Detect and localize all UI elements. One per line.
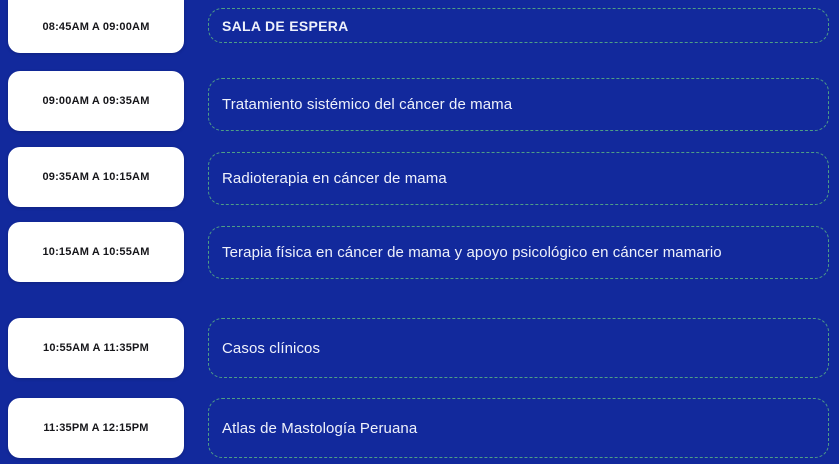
schedule-row: 10:15AM A 10:55AM Terapia física en cánc… (0, 222, 839, 282)
schedule-list: 08:45AM A 09:00AM SALA DE ESPERA 09:00AM… (0, 0, 839, 464)
session-title: Radioterapia en cáncer de mama (209, 170, 447, 187)
session-card[interactable]: Tratamiento sistémico del cáncer de mama (208, 78, 829, 131)
time-slot-chip[interactable]: 09:00AM A 09:35AM (8, 71, 184, 131)
time-slot-chip[interactable]: 11:35PM A 12:15PM (8, 398, 184, 458)
schedule-row: 08:45AM A 09:00AM SALA DE ESPERA (0, 0, 839, 54)
session-card[interactable]: Atlas de Mastología Peruana (208, 398, 829, 458)
session-title: Atlas de Mastología Peruana (209, 420, 417, 437)
session-card[interactable]: Terapia física en cáncer de mama y apoyo… (208, 226, 829, 279)
session-title: Casos clínicos (209, 340, 320, 357)
schedule-row: 11:35PM A 12:15PM Atlas de Mastología Pe… (0, 398, 839, 464)
time-slot-chip[interactable]: 09:35AM A 10:15AM (8, 147, 184, 207)
time-slot-label: 09:35AM A 10:15AM (42, 171, 149, 183)
time-slot-label: 08:45AM A 09:00AM (42, 21, 149, 33)
session-title: Terapia física en cáncer de mama y apoyo… (209, 244, 722, 261)
session-title: SALA DE ESPERA (209, 18, 349, 34)
schedule-row: 10:55AM A 11:35PM Casos clínicos (0, 318, 839, 378)
schedule-row: 09:35AM A 10:15AM Radioterapia en cáncer… (0, 147, 839, 207)
time-slot-chip[interactable]: 10:55AM A 11:35PM (8, 318, 184, 378)
schedule-row: 09:00AM A 09:35AM Tratamiento sistémico … (0, 71, 839, 131)
session-card[interactable]: Casos clínicos (208, 318, 829, 378)
session-title: Tratamiento sistémico del cáncer de mama (209, 96, 512, 113)
time-slot-label: 11:35PM A 12:15PM (43, 422, 148, 434)
session-card[interactable]: Radioterapia en cáncer de mama (208, 152, 829, 205)
time-slot-label: 10:55AM A 11:35PM (43, 342, 149, 354)
session-card[interactable]: SALA DE ESPERA (208, 8, 829, 43)
time-slot-chip[interactable]: 10:15AM A 10:55AM (8, 222, 184, 282)
time-slot-label: 10:15AM A 10:55AM (42, 246, 149, 258)
time-slot-label: 09:00AM A 09:35AM (42, 95, 149, 107)
time-slot-chip[interactable]: 08:45AM A 09:00AM (8, 0, 184, 53)
